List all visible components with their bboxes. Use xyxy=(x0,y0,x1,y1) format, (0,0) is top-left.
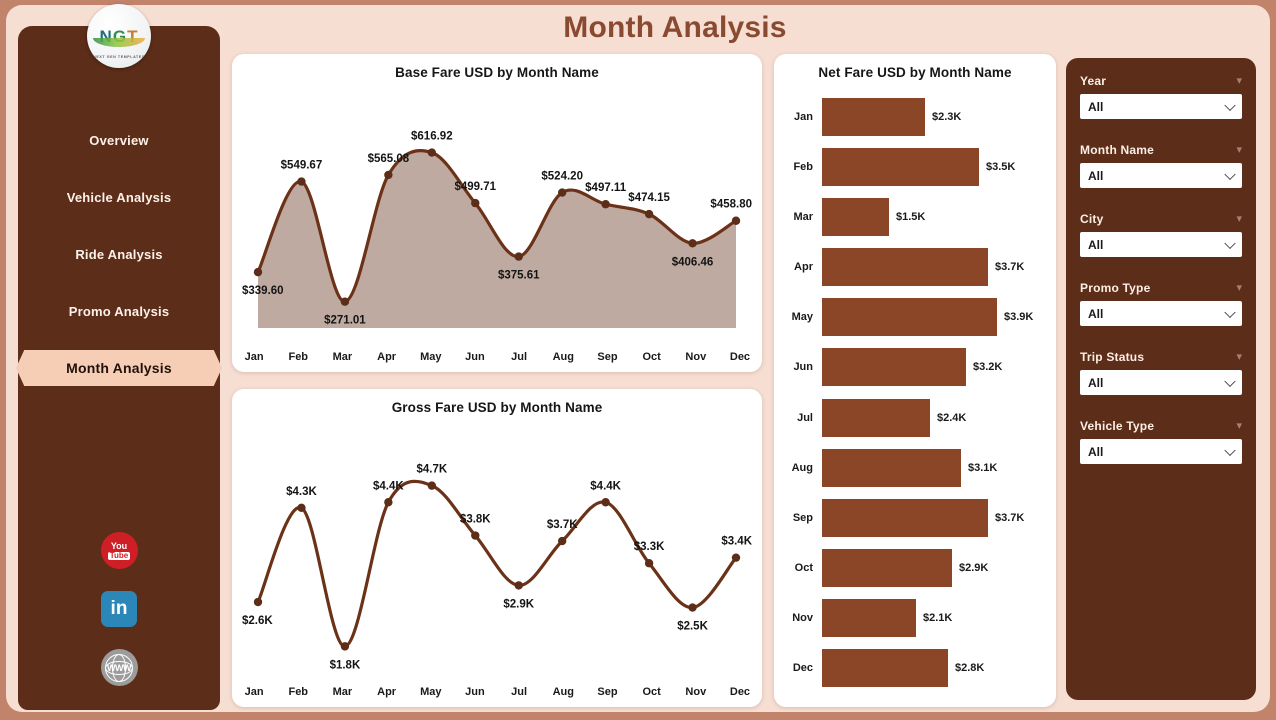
filter-year-select[interactable]: All xyxy=(1080,94,1242,119)
net-fare-chart[interactable]: Jan$2.3KFeb$3.5KMar$1.5KApr$3.7KMay$3.9K… xyxy=(774,88,1056,697)
data-label: $2.5K xyxy=(677,621,708,633)
x-axis-tick: Feb xyxy=(276,686,320,698)
series-line xyxy=(258,481,736,646)
data-point xyxy=(428,481,436,489)
bar-row[interactable]: Jan$2.3K xyxy=(786,98,1046,136)
sidebar-item-label: Vehicle Analysis xyxy=(67,190,172,205)
bar-fill xyxy=(822,449,961,487)
chevron-down-icon[interactable]: ▾ xyxy=(1236,76,1242,87)
data-label: $406.46 xyxy=(672,256,714,268)
net-fare-title: Net Fare USD by Month Name xyxy=(774,54,1056,80)
x-axis-tick: Dec xyxy=(718,351,762,363)
data-label: $497.11 xyxy=(585,182,627,194)
bar-category-label: Jan xyxy=(786,111,822,123)
linkedin-icon[interactable]: in xyxy=(101,591,137,627)
filter-vehicle-type-header[interactable]: Vehicle Type ▾ xyxy=(1080,419,1242,433)
sidebar-item-promo-analysis[interactable]: Promo Analysis xyxy=(18,293,220,329)
x-axis-tick: Apr xyxy=(365,686,409,698)
bar-fill xyxy=(822,298,997,336)
bar-track: $2.3K xyxy=(822,98,1046,136)
data-label: $3.3K xyxy=(634,541,665,553)
bar-value-label: $2.9K xyxy=(959,562,988,574)
bar-fill xyxy=(822,148,979,186)
data-point xyxy=(254,268,262,276)
bar-category-label: Mar xyxy=(786,211,822,223)
data-point xyxy=(471,531,479,539)
data-point xyxy=(645,559,653,567)
x-axis-tick: Jul xyxy=(497,686,541,698)
x-axis-tick: Feb xyxy=(276,351,320,363)
data-point xyxy=(601,498,609,506)
data-label: $474.15 xyxy=(628,192,670,204)
filter-trip-status-select[interactable]: All xyxy=(1080,370,1242,395)
sidebar-item-label: Month Analysis xyxy=(66,360,172,376)
social-links: You Tube in WWW xyxy=(18,532,220,686)
bar-row[interactable]: Apr$3.7K xyxy=(786,248,1046,286)
x-axis-tick: Jun xyxy=(453,686,497,698)
x-axis-tick: Nov xyxy=(674,686,718,698)
data-point xyxy=(732,553,740,561)
sidebar: NGT NEXT GEN TEMPLATES Overview Vehicle … xyxy=(18,26,220,710)
data-label: $565.08 xyxy=(368,153,410,165)
base-fare-chart[interactable]: $339.60$549.67$271.01$565.08$616.92$499.… xyxy=(232,82,762,364)
gross-fare-card: Gross Fare USD by Month Name $2.6K$4.3K$… xyxy=(232,389,762,707)
bar-fill xyxy=(822,399,930,437)
sidebar-item-label: Ride Analysis xyxy=(75,247,162,262)
gross-fare-x-axis: JanFebMarAprMayJunJulAugSepOctNovDec xyxy=(232,686,762,698)
filter-promo-type: Promo Type ▾ All xyxy=(1080,281,1242,326)
net-fare-card: Net Fare USD by Month Name Jan$2.3KFeb$3… xyxy=(774,54,1056,707)
x-axis-tick: May xyxy=(409,686,453,698)
filter-panel: Year ▾ All Month Name ▾ All City ▾ xyxy=(1066,58,1256,700)
data-label: $499.71 xyxy=(454,181,496,193)
filter-value: All xyxy=(1088,307,1103,321)
bar-row[interactable]: Oct$2.9K xyxy=(786,549,1046,587)
x-axis-tick: Sep xyxy=(585,351,629,363)
data-label: $4.4K xyxy=(373,480,404,492)
bar-value-label: $3.2K xyxy=(973,361,1002,373)
filter-label: Promo Type xyxy=(1080,281,1150,295)
chevron-down-icon xyxy=(1224,375,1235,386)
data-label: $3.7K xyxy=(547,519,578,531)
bar-value-label: $2.3K xyxy=(932,111,961,123)
data-label: $458.80 xyxy=(710,199,752,211)
data-label: $3.8K xyxy=(460,514,491,526)
x-axis-tick: Dec xyxy=(718,686,762,698)
website-icon[interactable]: WWW xyxy=(101,649,138,686)
bar-category-label: Feb xyxy=(786,161,822,173)
bar-track: $2.4K xyxy=(822,399,1046,437)
data-point xyxy=(428,148,436,156)
data-point xyxy=(558,537,566,545)
data-label: $3.4K xyxy=(721,536,752,548)
data-point xyxy=(341,297,349,305)
page-title: Month Analysis xyxy=(563,11,786,45)
data-label: $4.4K xyxy=(590,480,621,492)
x-axis-tick: Sep xyxy=(585,686,629,698)
data-point xyxy=(732,217,740,225)
sidebar-item-ride-analysis[interactable]: Ride Analysis xyxy=(18,236,220,272)
data-point xyxy=(297,504,305,512)
x-axis-tick: Nov xyxy=(674,351,718,363)
bar-track: $2.1K xyxy=(822,599,1046,637)
bar-category-label: Nov xyxy=(786,612,822,624)
data-point xyxy=(297,177,305,185)
bar-row[interactable]: Jun$3.2K xyxy=(786,348,1046,386)
filter-value: All xyxy=(1088,100,1103,114)
data-point xyxy=(254,598,262,606)
bar-track: $1.5K xyxy=(822,198,1046,236)
base-fare-card: Base Fare USD by Month Name $339.60$549.… xyxy=(232,54,762,372)
data-label: $2.6K xyxy=(242,615,273,627)
base-fare-title: Base Fare USD by Month Name xyxy=(232,54,762,80)
bar-category-label: Jul xyxy=(786,412,822,424)
x-axis-tick: Jan xyxy=(232,351,276,363)
filter-year: Year ▾ All xyxy=(1080,74,1242,119)
bar-track: $3.1K xyxy=(822,449,1046,487)
bar-value-label: $2.1K xyxy=(923,612,952,624)
brand-logo[interactable]: NGT NEXT GEN TEMPLATES xyxy=(87,4,151,68)
x-axis-tick: Oct xyxy=(630,686,674,698)
logo-subtitle: NEXT GEN TEMPLATES xyxy=(93,55,145,59)
filter-month-name-header[interactable]: Month Name ▾ xyxy=(1080,143,1242,157)
sidebar-item-label: Overview xyxy=(89,133,148,148)
filter-label: City xyxy=(1080,212,1103,226)
data-label: $271.01 xyxy=(324,315,366,327)
filter-label: Vehicle Type xyxy=(1080,419,1154,433)
chevron-down-icon xyxy=(1224,168,1235,179)
sidebar-item-label: Promo Analysis xyxy=(69,304,170,319)
x-axis-tick: Jun xyxy=(453,351,497,363)
chevron-down-icon[interactable]: ▾ xyxy=(1236,421,1242,432)
sidebar-item-overview[interactable]: Overview xyxy=(18,122,220,158)
bar-track: $3.7K xyxy=(822,248,1046,286)
bar-value-label: $3.1K xyxy=(968,462,997,474)
sidebar-item-month-analysis[interactable]: Month Analysis xyxy=(16,350,222,386)
bar-category-label: Apr xyxy=(786,261,822,273)
filter-month-name-select[interactable]: All xyxy=(1080,163,1242,188)
bar-category-label: Oct xyxy=(786,562,822,574)
dashboard-root: Month Analysis NGT NEXT GEN TEMPLATES Ov… xyxy=(0,0,1276,720)
bar-value-label: $3.7K xyxy=(995,512,1024,524)
data-label: $4.7K xyxy=(416,464,447,476)
filter-value: All xyxy=(1088,238,1103,252)
bar-value-label: $2.8K xyxy=(955,662,984,674)
data-label: $339.60 xyxy=(242,285,284,297)
bar-row[interactable]: Nov$2.1K xyxy=(786,599,1046,637)
bar-category-label: Jun xyxy=(786,361,822,373)
chevron-down-icon xyxy=(1224,99,1235,110)
bar-fill xyxy=(822,248,988,286)
filter-vehicle-type: Vehicle Type ▾ All xyxy=(1080,419,1242,464)
website-label: WWW xyxy=(107,663,131,673)
bar-fill xyxy=(822,599,916,637)
bar-fill xyxy=(822,98,925,136)
data-label: $1.8K xyxy=(330,659,361,671)
x-axis-tick: Jul xyxy=(497,351,541,363)
linkedin-label: in xyxy=(111,598,128,620)
x-axis-tick: Mar xyxy=(320,686,364,698)
x-axis-tick: Oct xyxy=(630,351,674,363)
bar-fill xyxy=(822,499,988,537)
logo-swoosh-icon xyxy=(93,38,145,47)
filter-label: Month Name xyxy=(1080,143,1154,157)
youtube-icon[interactable]: You Tube xyxy=(101,532,138,569)
filter-trip-status: Trip Status ▾ All xyxy=(1080,350,1242,395)
data-label: $2.9K xyxy=(503,598,534,610)
sidebar-nav: Overview Vehicle Analysis Ride Analysis … xyxy=(18,122,220,407)
data-label: $375.61 xyxy=(498,270,540,282)
filter-year-header[interactable]: Year ▾ xyxy=(1080,74,1242,88)
filter-city-select[interactable]: All xyxy=(1080,232,1242,257)
filter-city-header[interactable]: City ▾ xyxy=(1080,212,1242,226)
filter-label: Trip Status xyxy=(1080,350,1144,364)
data-point xyxy=(688,239,696,247)
gross-fare-title: Gross Fare USD by Month Name xyxy=(232,389,762,415)
bar-row[interactable]: Dec$2.8K xyxy=(786,649,1046,687)
x-axis-tick: Aug xyxy=(541,351,585,363)
bar-fill xyxy=(822,549,952,587)
bar-value-label: $3.7K xyxy=(995,261,1024,273)
bar-track: $3.9K xyxy=(822,298,1046,336)
filter-city: City ▾ All xyxy=(1080,212,1242,257)
data-point xyxy=(601,200,609,208)
bar-category-label: May xyxy=(786,311,822,323)
chevron-down-icon[interactable]: ▾ xyxy=(1236,145,1242,156)
bar-category-label: Sep xyxy=(786,512,822,524)
filter-value: All xyxy=(1088,169,1103,183)
data-label: $4.3K xyxy=(286,486,317,498)
bar-row[interactable]: Sep$3.7K xyxy=(786,499,1046,537)
gross-fare-chart[interactable]: $2.6K$4.3K$1.8K$4.4K$4.7K$3.8K$2.9K$3.7K… xyxy=(232,417,762,699)
youtube-line1: You xyxy=(111,542,127,551)
filter-promo-type-select[interactable]: All xyxy=(1080,301,1242,326)
data-label: $549.67 xyxy=(281,160,323,172)
chevron-down-icon xyxy=(1224,306,1235,317)
youtube-line2: Tube xyxy=(108,552,131,560)
x-axis-tick: Jan xyxy=(232,686,276,698)
x-axis-tick: Mar xyxy=(320,351,364,363)
bar-row[interactable]: Jul$2.4K xyxy=(786,399,1046,437)
bar-row[interactable]: Feb$3.5K xyxy=(786,148,1046,186)
x-axis-tick: Aug xyxy=(541,686,585,698)
data-label: $616.92 xyxy=(411,131,453,143)
bar-track: $3.2K xyxy=(822,348,1046,386)
header-bar: Month Analysis xyxy=(225,0,1125,56)
data-point xyxy=(688,603,696,611)
bar-track: $3.7K xyxy=(822,499,1046,537)
bar-fill xyxy=(822,348,966,386)
data-point xyxy=(645,210,653,218)
bar-row[interactable]: Aug$3.1K xyxy=(786,449,1046,487)
bar-track: $3.5K xyxy=(822,148,1046,186)
bar-row[interactable]: May$3.9K xyxy=(786,298,1046,336)
filter-vehicle-type-select[interactable]: All xyxy=(1080,439,1242,464)
bar-value-label: $2.4K xyxy=(937,412,966,424)
bar-fill xyxy=(822,198,889,236)
filter-month-name: Month Name ▾ All xyxy=(1080,143,1242,188)
data-point xyxy=(341,642,349,650)
data-point xyxy=(471,199,479,207)
data-point xyxy=(558,188,566,196)
chevron-down-icon[interactable]: ▾ xyxy=(1236,214,1242,225)
filter-value: All xyxy=(1088,445,1103,459)
filter-label: Year xyxy=(1080,74,1106,88)
data-point xyxy=(384,498,392,506)
x-axis-tick: May xyxy=(409,351,453,363)
data-label: $524.20 xyxy=(541,171,583,183)
bar-value-label: $3.5K xyxy=(986,161,1015,173)
bar-category-label: Dec xyxy=(786,662,822,674)
bar-value-label: $3.9K xyxy=(1004,311,1033,323)
filter-value: All xyxy=(1088,376,1103,390)
sidebar-item-vehicle-analysis[interactable]: Vehicle Analysis xyxy=(18,179,220,215)
chevron-down-icon xyxy=(1224,237,1235,248)
filter-trip-status-header[interactable]: Trip Status ▾ xyxy=(1080,350,1242,364)
bar-fill xyxy=(822,649,948,687)
chevron-down-icon xyxy=(1224,444,1235,455)
bar-value-label: $1.5K xyxy=(896,211,925,223)
bar-category-label: Aug xyxy=(786,462,822,474)
bar-track: $2.8K xyxy=(822,649,1046,687)
base-fare-x-axis: JanFebMarAprMayJunJulAugSepOctNovDec xyxy=(232,351,762,363)
data-point xyxy=(515,252,523,260)
data-point xyxy=(384,171,392,179)
bar-row[interactable]: Mar$1.5K xyxy=(786,198,1046,236)
x-axis-tick: Apr xyxy=(365,351,409,363)
filter-promo-type-header[interactable]: Promo Type ▾ xyxy=(1080,281,1242,295)
data-point xyxy=(515,581,523,589)
chevron-down-icon[interactable]: ▾ xyxy=(1236,352,1242,363)
bar-track: $2.9K xyxy=(822,549,1046,587)
chevron-down-icon[interactable]: ▾ xyxy=(1236,283,1242,294)
